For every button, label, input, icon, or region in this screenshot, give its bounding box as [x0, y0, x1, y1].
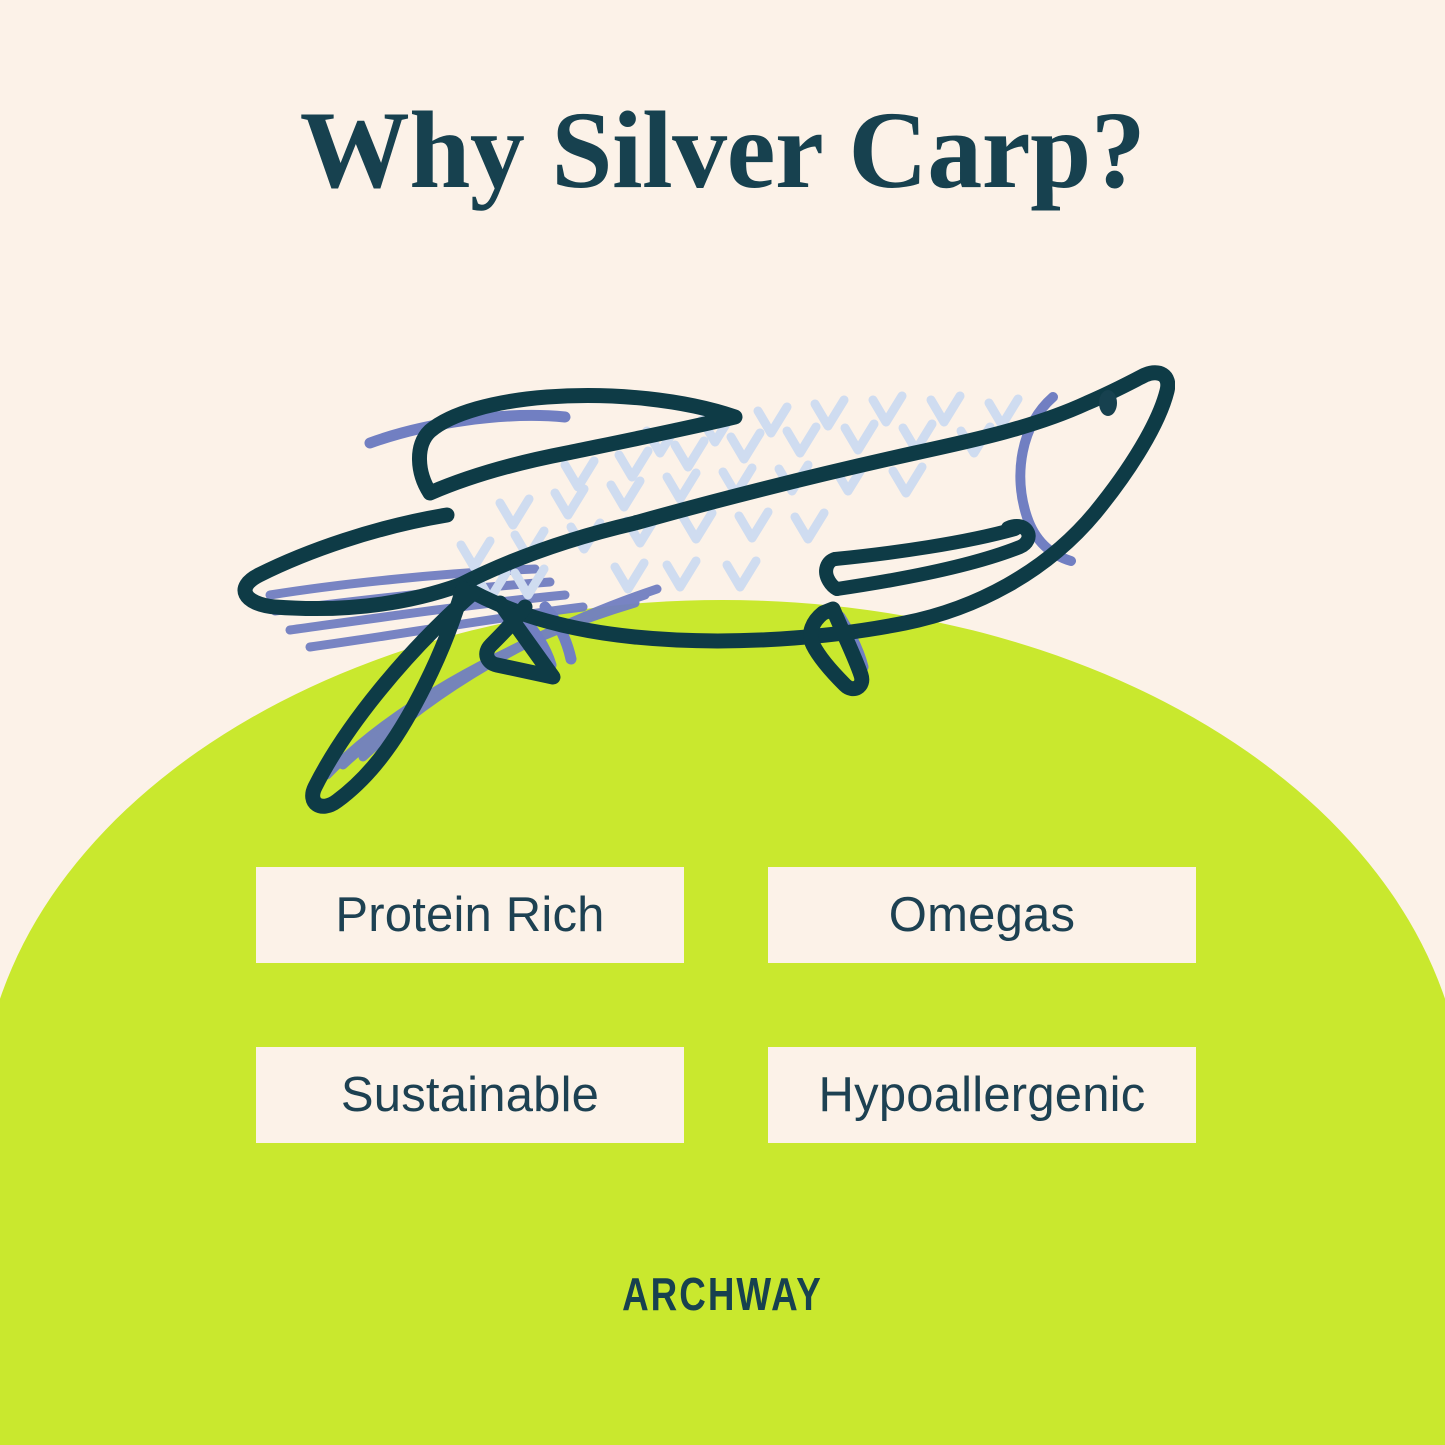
badge-sustainable[interactable]: Sustainable: [256, 1047, 684, 1143]
benefit-badge-grid: Protein Rich Omegas Sustainable Hypoalle…: [256, 867, 1196, 1143]
badge-label: Hypoallergenic: [819, 1067, 1146, 1123]
badge-omegas[interactable]: Omegas: [768, 867, 1196, 963]
badge-label: Protein Rich: [335, 887, 604, 943]
fish-eye: [1099, 390, 1117, 416]
badge-label: Sustainable: [341, 1067, 599, 1123]
page-title: Why Silver Carp?: [0, 95, 1445, 205]
silver-carp-illustration: [215, 345, 1175, 825]
brand-logo: ARCHWAY: [0, 1267, 1445, 1321]
brand-logo-text: ARCHWAY: [622, 1267, 823, 1321]
badge-label: Omegas: [889, 887, 1075, 943]
badge-protein-rich[interactable]: Protein Rich: [256, 867, 684, 963]
poster-canvas: Why Silver Carp?: [0, 0, 1445, 1445]
badge-hypoallergenic[interactable]: Hypoallergenic: [768, 1047, 1196, 1143]
